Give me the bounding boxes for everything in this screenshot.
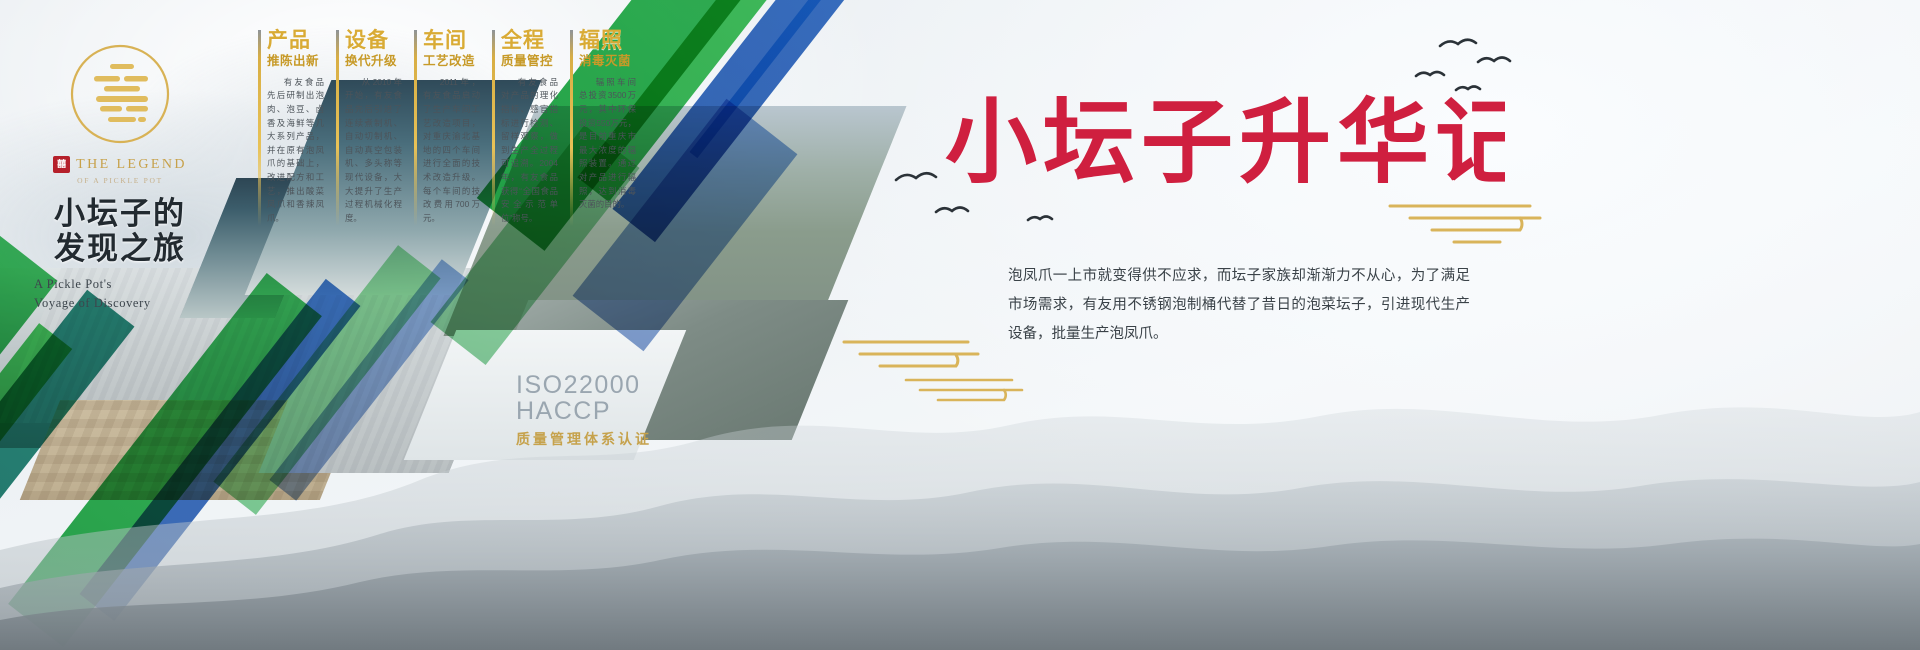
info-card-list: 产品 推陈出新 有友食品先后研制出泡肉、泡豆、卤香及海鲜等几大系列产品，并在原有… — [258, 30, 636, 226]
card-subtitle: 消毒灭菌 — [579, 54, 636, 69]
info-card-quality[interactable]: 全程 质量管控 有友食品对产品的理化指标、感官指标进行检测、留样观察，做到生产全… — [492, 30, 558, 226]
cloud-scroll-lower — [900, 372, 1030, 412]
iso-line-1: ISO22000 — [516, 372, 652, 398]
card-rule — [570, 30, 573, 226]
card-title: 辐照 — [579, 30, 636, 52]
brand-english-title: A Pickle Pot's Voyage of Discovery — [30, 275, 210, 311]
brand-chinese-title: 小坛子的 发现之旅 — [30, 197, 210, 266]
brand-block: 囍 THE LEGEND OF A PICKLE POT 小坛子的 发现之旅 A… — [30, 42, 210, 312]
cloud-scroll-icon — [900, 372, 1030, 412]
info-card-irradiation[interactable]: 辐照 消毒灭菌 辐照车间总投资3500万元，其中环保投资550万元，是目前重庆市… — [570, 30, 636, 226]
iso-certification-block: ISO22000 HACCP 质量管理体系认证 — [516, 372, 652, 449]
card-rule — [414, 30, 417, 226]
body-paragraph: 泡凤爪一上市就变得供不应求，而坛子家族却渐渐力不从心，为了满足市场需求，有友用不… — [1008, 262, 1470, 349]
card-rule — [258, 30, 261, 226]
card-subtitle: 推陈出新 — [267, 54, 324, 69]
card-subtitle: 换代升级 — [345, 54, 402, 69]
card-body: 辐照车间总投资3500万元，其中环保投资550万元，是目前重庆市最大浓度的辐照装… — [579, 76, 636, 212]
cloud-scroll-icon — [1380, 196, 1550, 248]
hero-title: 小坛子升华记 — [945, 82, 1505, 207]
red-seal-stamp-icon: 囍 — [53, 156, 70, 173]
card-subtitle: 质量管控 — [501, 54, 558, 69]
legend-subtitle: OF A PICKLE POT — [30, 176, 210, 185]
card-rule — [336, 30, 339, 226]
info-card-product[interactable]: 产品 推陈出新 有友食品先后研制出泡肉、泡豆、卤香及海鲜等几大系列产品，并在原有… — [258, 30, 324, 226]
info-card-equipment[interactable]: 设备 换代升级 从2010年开始，有友食品先后引进了连续煮制机、自动切制机、自动… — [336, 30, 402, 226]
card-title: 车间 — [423, 30, 480, 52]
card-body: 从2010年开始，有友食品先后引进了连续煮制机、自动切制机、自动真空包装机、多头… — [345, 76, 402, 226]
legend-english: THE LEGEND — [76, 157, 187, 173]
banner-canvas: 囍 THE LEGEND OF A PICKLE POT 小坛子的 发现之旅 A… — [0, 0, 1920, 650]
iso-line-3: 质量管理体系认证 — [516, 429, 652, 449]
legend-row: 囍 THE LEGEND — [30, 156, 210, 173]
cloud-scroll-right — [1380, 196, 1550, 248]
card-title: 产品 — [267, 30, 324, 52]
card-subtitle: 工艺改造 — [423, 54, 480, 69]
card-body: 有友食品对产品的理化指标、感官指标进行检测、留样观察，做到生产全过程可追溯。20… — [501, 76, 558, 226]
card-title: 全程 — [501, 30, 558, 52]
hero-title-text: 小坛子升华记 — [945, 92, 1505, 194]
card-rule — [492, 30, 495, 226]
card-title: 设备 — [345, 30, 402, 52]
card-body: 2011年，有友食品启动了生产车间工艺改造项目，对重庆渝北基地的四个车间进行全面… — [423, 76, 480, 226]
iso-line-2: HACCP — [516, 398, 652, 424]
seal-icon — [68, 42, 172, 146]
info-card-workshop[interactable]: 车间 工艺改造 2011年，有友食品启动了生产车间工艺改造项目，对重庆渝北基地的… — [414, 30, 480, 226]
card-body: 有友食品先后研制出泡肉、泡豆、卤香及海鲜等几大系列产品，并在原有泡凤爪的基础上，… — [267, 76, 324, 226]
